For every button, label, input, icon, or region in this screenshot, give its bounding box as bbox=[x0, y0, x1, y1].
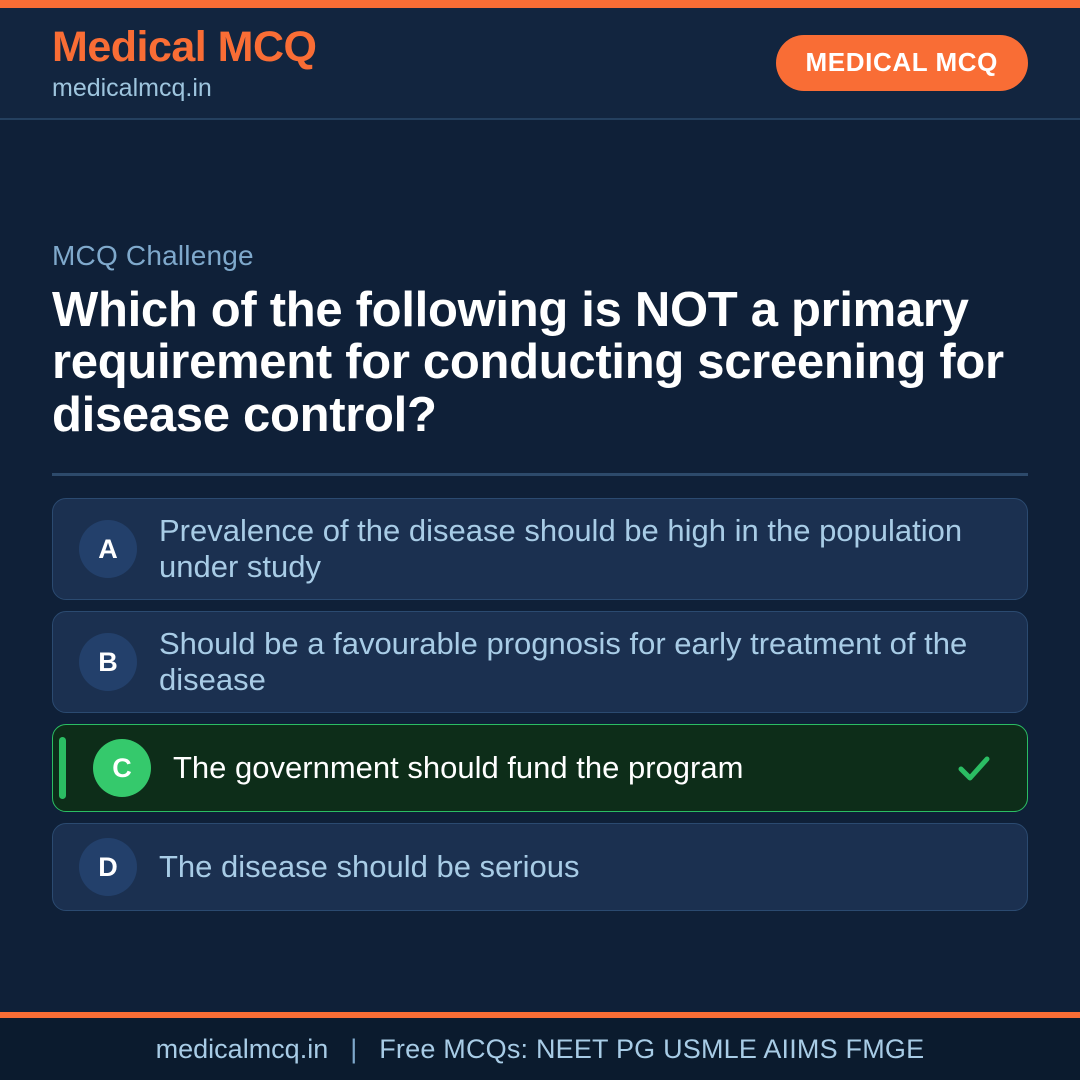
footer: medicalmcq.in | Free MCQs: NEET PG USMLE… bbox=[0, 1012, 1080, 1080]
checkmark-icon bbox=[953, 747, 995, 789]
option-badge-a: A bbox=[79, 520, 137, 578]
option-row-c[interactable]: C The government should fund the program bbox=[52, 724, 1028, 812]
option-text-c: The government should fund the program bbox=[173, 750, 953, 786]
option-badge-d: D bbox=[79, 838, 137, 896]
option-text-d: The disease should be serious bbox=[159, 849, 1003, 885]
brand: Medical MCQ medicalmcq.in bbox=[52, 26, 317, 101]
top-accent-bar bbox=[0, 0, 1080, 8]
options-list: A Prevalence of the disease should be hi… bbox=[52, 498, 1028, 911]
option-row-d[interactable]: D The disease should be serious bbox=[52, 823, 1028, 911]
header: Medical MCQ medicalmcq.in MEDICAL MCQ bbox=[0, 8, 1080, 120]
footer-content: medicalmcq.in | Free MCQs: NEET PG USMLE… bbox=[156, 1034, 925, 1065]
option-text-a: Prevalence of the disease should be high… bbox=[159, 513, 1003, 585]
option-row-b[interactable]: B Should be a favourable prognosis for e… bbox=[52, 611, 1028, 713]
option-badge-c: C bbox=[93, 739, 151, 797]
question-label: MCQ Challenge bbox=[52, 240, 1028, 272]
correct-accent-bar bbox=[59, 737, 66, 799]
main-content: MCQ Challenge Which of the following is … bbox=[0, 120, 1080, 1012]
brand-badge: MEDICAL MCQ bbox=[776, 35, 1028, 91]
mcq-card: Medical MCQ medicalmcq.in MEDICAL MCQ MC… bbox=[0, 0, 1080, 1080]
brand-title: Medical MCQ bbox=[52, 26, 317, 69]
option-badge-b: B bbox=[79, 633, 137, 691]
option-text-b: Should be a favourable prognosis for ear… bbox=[159, 626, 1003, 698]
brand-subtitle: medicalmcq.in bbox=[52, 76, 317, 101]
question-text: Which of the following is NOT a primary … bbox=[52, 284, 1028, 441]
footer-separator: | bbox=[350, 1034, 357, 1065]
footer-site: medicalmcq.in bbox=[156, 1034, 329, 1065]
footer-exams: Free MCQs: NEET PG USMLE AIIMS FMGE bbox=[379, 1034, 924, 1065]
option-row-a[interactable]: A Prevalence of the disease should be hi… bbox=[52, 498, 1028, 600]
divider bbox=[52, 473, 1028, 476]
